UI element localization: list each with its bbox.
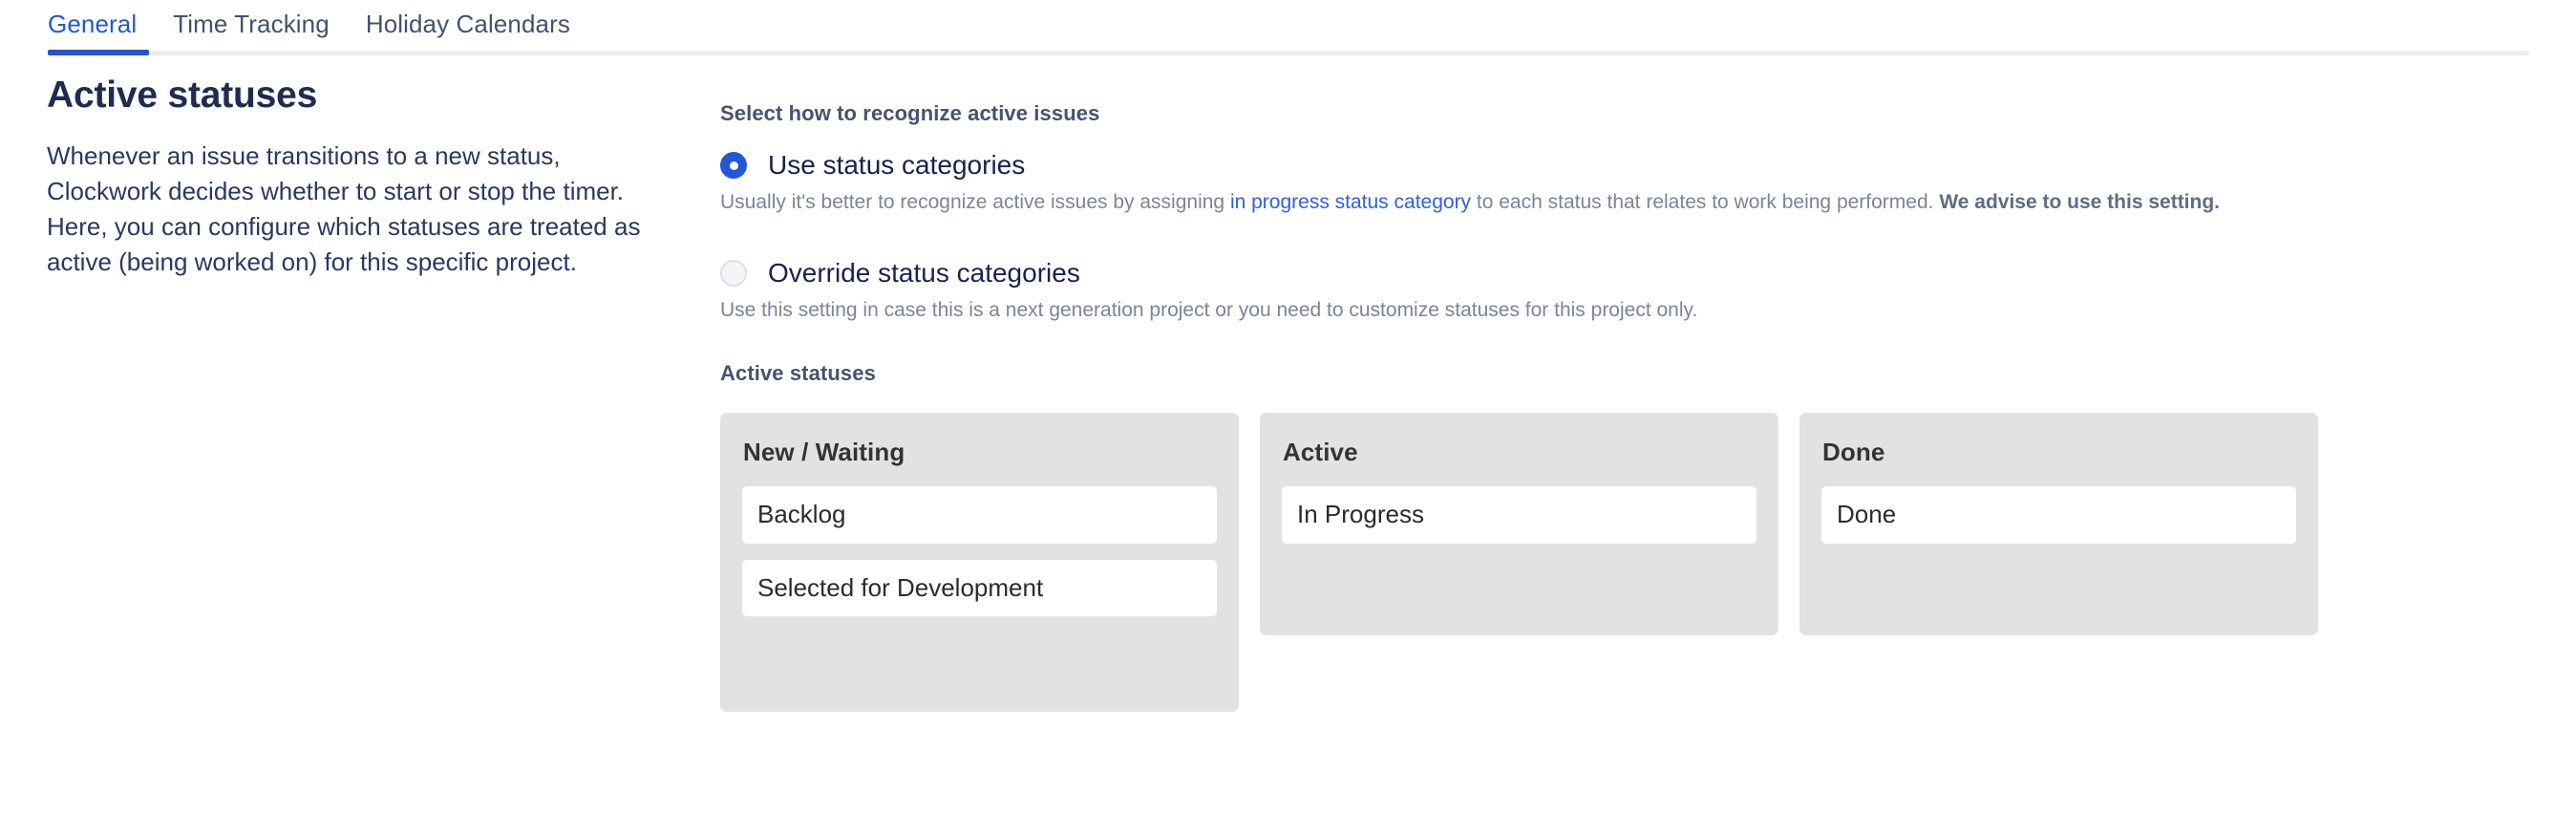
tab-active-indicator <box>48 50 149 55</box>
helper-text-override-status-categories: Use this setting in case this is a next … <box>720 296 2468 326</box>
status-card-done[interactable]: Done <box>1820 485 2297 544</box>
page-description: Whenever an issue transitions to a new s… <box>47 139 668 280</box>
status-card-in-progress[interactable]: In Progress <box>1281 485 1757 544</box>
active-statuses-label: Active statuses <box>720 361 2535 386</box>
helper-bold-text: We advise to use this setting. <box>1939 191 2220 213</box>
page-title: Active statuses <box>47 75 677 118</box>
status-column-active[interactable]: Active In Progress <box>1260 413 1778 635</box>
tab-holiday-calendars[interactable]: Holiday Calendars <box>366 0 570 55</box>
status-column-title: Active <box>1283 438 1757 467</box>
description-panel: Active statuses Whenever an issue transi… <box>47 75 677 279</box>
tab-underline-track <box>48 51 2529 55</box>
helper-mid-text: to each status that relates to work bein… <box>1471 191 1939 213</box>
status-card-selected-for-development[interactable]: Selected for Development <box>741 559 1218 617</box>
status-column-done[interactable]: Done Done <box>1799 413 2318 635</box>
helper-pre-text: Usually it's better to recognize active … <box>720 191 1230 213</box>
status-card-backlog[interactable]: Backlog <box>741 485 1218 544</box>
status-column-title: Done <box>1822 438 2297 467</box>
status-column-title: New / Waiting <box>743 438 1218 467</box>
tab-time-tracking[interactable]: Time Tracking <box>173 0 330 55</box>
status-column-new-waiting[interactable]: New / Waiting Backlog Selected for Devel… <box>720 413 1239 712</box>
radio-unselected-icon[interactable] <box>720 260 747 287</box>
status-columns: New / Waiting Backlog Selected for Devel… <box>720 413 2535 712</box>
radio-option-override-status-categories[interactable]: Override status categories <box>720 260 2535 287</box>
radio-selected-icon[interactable] <box>720 152 747 179</box>
section-label: Select how to recognize active issues <box>720 101 2535 126</box>
radio-option-use-status-categories[interactable]: Use status categories <box>720 152 2535 179</box>
tab-bar: General Time Tracking Holiday Calendars <box>0 0 2576 54</box>
radio-label-override-status-categories: Override status categories <box>768 260 1080 287</box>
in-progress-status-category-link[interactable]: in progress status category <box>1230 191 1471 213</box>
helper-text-use-status-categories: Usually it's better to recognize active … <box>720 188 2468 218</box>
settings-panel: Select how to recognize active issues Us… <box>720 101 2535 712</box>
radio-label-use-status-categories: Use status categories <box>768 152 1025 179</box>
tab-list: General Time Tracking Holiday Calendars <box>48 0 607 54</box>
tab-general[interactable]: General <box>48 0 137 55</box>
settings-page: General Time Tracking Holiday Calendars … <box>0 0 2576 814</box>
